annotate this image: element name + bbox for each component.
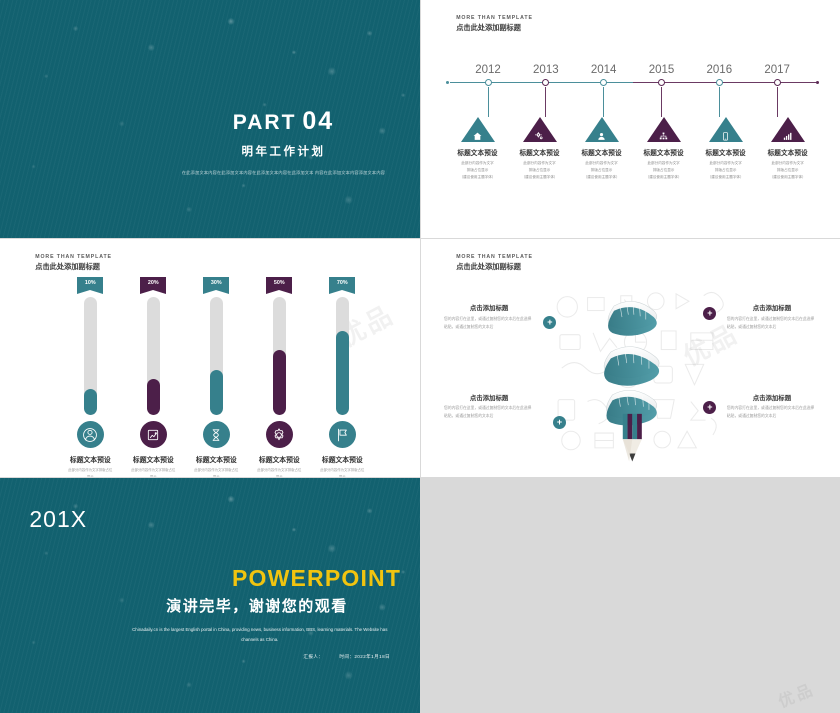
slide-header: MORE THAN TEMPLATE 点击此处添加副标题 — [35, 254, 112, 272]
header-cn: 点击此处添加副标题 — [456, 23, 533, 33]
timeline-node[interactable] — [517, 78, 575, 87]
text-block-bottom-left: 点击添加标题 您的内容打在这里，或通过复制您的文本后在此选择粘贴，或通过复制您的… — [444, 393, 534, 421]
timeline-item[interactable]: 标题文本预设此部分内容作为文字排版占位显示（建议使用主题字体） — [633, 117, 695, 181]
timeline-node-row — [442, 78, 823, 87]
slide-deck-grid: PART04 明年工作计划 在此添加文本内容在此添加文本内容在此添加文本内容在此… — [0, 0, 840, 713]
timeline-year: 2012 — [459, 64, 517, 76]
timeline-item-title: 标题文本预设 — [697, 147, 755, 157]
progress-fill — [273, 350, 286, 415]
progress-track[interactable] — [273, 297, 286, 415]
hourglass-icon[interactable] — [203, 421, 230, 448]
thanks-message: 演讲完毕，谢谢您的观看 — [124, 595, 401, 616]
timeline-item-title: 标题文本预设 — [635, 147, 693, 157]
timeline-year: 2014 — [575, 64, 633, 76]
timeline-stem-row — [442, 87, 823, 117]
slide-part-04[interactable]: PART04 明年工作计划 在此添加文本内容在此添加文本内容在此添加文本内容在此… — [0, 0, 420, 238]
timeline-item-title: 标题文本预设 — [759, 147, 817, 157]
powerpoint-title: POWERPOINT — [124, 567, 401, 590]
timeline-stem — [575, 87, 633, 117]
timeline-item[interactable]: 标题文本预设此部分内容作为文字排版占位显示（建议使用主题字体） — [695, 117, 757, 181]
header-en: MORE THAN TEMPLATE — [35, 254, 112, 260]
bar-item-title: 标题文本预设 — [133, 454, 174, 464]
stem-line — [603, 87, 604, 117]
timeline-node-dot — [774, 79, 781, 86]
slide-pencil-spiral[interactable]: MORE THAN TEMPLATE 点击此处添加副标题 优品 — [421, 239, 840, 477]
timeline-item-body: 此部分内容作为文字排版占位显示（建议使用主题字体） — [511, 160, 569, 181]
english-paragraph: Chinadaily.cn is the largest English por… — [124, 625, 401, 644]
person-icon — [596, 130, 608, 142]
timeline-node-dot — [716, 79, 723, 86]
part-number: 04 — [302, 107, 334, 135]
timeline-item-title: 标题文本预设 — [511, 147, 569, 157]
pencil-spiral-graphic — [587, 279, 679, 469]
timeline-item-title: 标题文本预设 — [573, 147, 631, 157]
stem-line — [545, 87, 546, 117]
date-label: 时间：2022年1月18日 — [339, 654, 390, 659]
timeline-triangle — [647, 117, 681, 142]
timeline-node-dot — [600, 79, 607, 86]
home-icon — [472, 130, 484, 142]
slide-timeline[interactable]: MORE THAN TEMPLATE 点击此处添加副标题 20122013201… — [421, 0, 840, 238]
timeline-node-dot — [485, 79, 492, 86]
block-title: 点击添加标题 — [727, 393, 817, 402]
part-title-group: PART04 明年工作计划 在此添加文本内容在此添加文本内容在此添加文本内容在此… — [174, 109, 392, 177]
progress-bar-row: 10%标题文本预设此部分内容作为文字排版占位显示（建议使用主题字体）20%标题文… — [59, 277, 374, 477]
slide-header: MORE THAN TEMPLATE 点击此处添加副标题 — [456, 254, 533, 272]
stem-line — [488, 87, 489, 117]
percent-badge: 20% — [140, 277, 166, 290]
timeline-stem — [459, 87, 517, 117]
block-title: 点击添加标题 — [727, 303, 817, 312]
timeline-node[interactable] — [690, 78, 748, 87]
timeline-item-title: 标题文本预设 — [449, 147, 507, 157]
block-title: 点击添加标题 — [444, 393, 534, 402]
watermark-page: 优品 — [774, 676, 818, 712]
timeline-item-body: 此部分内容作为文字排版占位显示（建议使用主题字体） — [573, 160, 631, 181]
block-title: 点击添加标题 — [444, 303, 534, 312]
timeline-year: 2013 — [517, 64, 575, 76]
text-block-bottom-right: 点击添加标题 您的内容打在这里，或通过复制您的文本后在此选择粘贴，或通过复制您的… — [727, 393, 817, 421]
bar-item-body: 此部分内容作为文字排版占位显示（建议使用主题字体） — [257, 467, 301, 477]
report-icon[interactable] — [140, 421, 167, 448]
stem-line — [661, 87, 662, 117]
timeline-stem — [690, 87, 748, 117]
timeline-stem — [748, 87, 806, 117]
block-body: 您的内容打在这里，或通过复制您的文本后在此选择粘贴，或通过复制您的文本后 — [727, 405, 817, 421]
timeline-item[interactable]: 标题文本预设此部分内容作为文字排版占位显示（建议使用主题字体） — [509, 117, 571, 181]
header-en: MORE THAN TEMPLATE — [456, 254, 533, 260]
slide-header: MORE THAN TEMPLATE 点击此处添加副标题 — [456, 15, 533, 33]
percent-badge: 50% — [266, 277, 292, 290]
timeline-year: 2016 — [690, 64, 748, 76]
timeline-node-dot — [542, 79, 549, 86]
progress-bar-item[interactable]: 20%标题文本预设此部分内容作为文字排版占位显示（建议使用主题字体） — [122, 277, 185, 477]
timeline-stem — [633, 87, 691, 117]
progress-fill — [210, 370, 223, 416]
percent-badge: 10% — [77, 277, 103, 290]
part-subtitle: 明年工作计划 — [174, 143, 392, 159]
stem-line — [719, 87, 720, 117]
bar-item-title: 标题文本预设 — [196, 454, 237, 464]
header-en: MORE THAN TEMPLATE — [456, 15, 533, 21]
timeline-stem — [517, 87, 575, 117]
timeline-item[interactable]: 标题文本预设此部分内容作为文字排版占位显示（建议使用主题字体） — [757, 117, 819, 181]
part-heading: PART04 — [174, 109, 392, 134]
block-body: 您的内容打在这里，或通过复制您的文本后在此选择粘贴，或通过复制您的文本后 — [444, 405, 534, 421]
mobile-icon — [720, 130, 732, 142]
timeline-item-row: 标题文本预设此部分内容作为文字排版占位显示（建议使用主题字体）标题文本预设此部分… — [442, 117, 823, 181]
sitemap-icon — [658, 130, 670, 142]
bar-item-title: 标题文本预设 — [70, 454, 111, 464]
progress-bar-item[interactable]: 50%标题文本预设此部分内容作为文字排版占位显示（建议使用主题字体） — [248, 277, 311, 477]
stem-line — [777, 87, 778, 117]
flag-icon[interactable] — [329, 421, 356, 448]
block-body: 您的内容打在这里，或通过复制您的文本后在此选择粘贴，或通过复制您的文本后 — [727, 316, 817, 332]
timeline-item-body: 此部分内容作为文字排版占位显示（建议使用主题字体） — [759, 160, 817, 181]
slide-thank-you[interactable]: 201X POWERPOINT 演讲完毕，谢谢您的观看 Chinadaily.c… — [0, 478, 420, 713]
timeline-triangle — [709, 117, 743, 142]
part-label: PART — [233, 111, 297, 134]
bar-item-body: 此部分内容作为文字排版占位显示（建议使用主题字体） — [68, 467, 112, 477]
part-description: 在此添加文本内容在此添加文本内容在此添加文本内容在此添加文本 内容在此添加文本内… — [174, 169, 392, 177]
timeline-item-body: 此部分内容作为文字排版占位显示（建议使用主题字体） — [697, 160, 755, 181]
percent-badge: 30% — [203, 277, 229, 290]
timeline-item-body: 此部分内容作为文字排版占位显示（建议使用主题字体） — [635, 160, 693, 181]
bar-item-title: 标题文本预设 — [259, 454, 300, 464]
timeline-year: 2015 — [633, 64, 691, 76]
timeline-axis — [442, 78, 823, 87]
bars-icon — [782, 130, 794, 142]
presenter-line: 汇报人：时间：2022年1月18日 — [124, 654, 401, 660]
timeline-node-dot — [658, 79, 665, 86]
year-label: 201X — [29, 506, 87, 533]
progress-bar-item[interactable]: 30%标题文本预设此部分内容作为文字排版占位显示（建议使用主题字体） — [185, 277, 248, 477]
timeline-triangle — [771, 117, 805, 142]
timeline-node[interactable] — [459, 78, 517, 87]
bar-item-body: 此部分内容作为文字排版占位显示（建议使用主题字体） — [194, 467, 238, 477]
progress-fill — [84, 389, 97, 415]
header-cn: 点击此处添加副标题 — [456, 262, 533, 272]
timeline-triangle — [523, 117, 557, 142]
user-icon[interactable] — [77, 421, 104, 448]
bar-item-title: 标题文本预设 — [322, 454, 363, 464]
timeline-node[interactable] — [575, 78, 633, 87]
block-body: 您的内容打在这里，或通过复制您的文本后在此选择粘贴，或通过复制您的文本后 — [444, 316, 534, 332]
timeline-item-body: 此部分内容作为文字排版占位显示（建议使用主题字体） — [449, 160, 507, 181]
gear-icon[interactable] — [266, 421, 293, 448]
timeline-triangle — [585, 117, 619, 142]
progress-bar-item[interactable]: 70%标题文本预设此部分内容作为文字排版占位显示（建议使用主题字体） — [311, 277, 374, 477]
timeline-year: 2017 — [748, 64, 806, 76]
progress-fill — [147, 379, 160, 415]
progress-track[interactable] — [84, 297, 97, 415]
header-cn: 点击此处添加副标题 — [35, 262, 112, 272]
text-block-top-left: 点击添加标题 您的内容打在这里，或通过复制您的文本后在此选择粘贴，或通过复制您的… — [444, 303, 534, 331]
progress-track[interactable] — [147, 297, 160, 415]
progress-fill — [336, 331, 349, 415]
timeline-year-row: 201220132014201520162017 — [442, 64, 823, 76]
bar-item-body: 此部分内容作为文字排版占位显示（建议使用主题字体） — [131, 467, 175, 477]
progress-track[interactable] — [210, 297, 223, 415]
gears-icon — [534, 130, 546, 142]
progress-bar-item[interactable]: 10%标题文本预设此部分内容作为文字排版占位显示（建议使用主题字体） — [59, 277, 122, 477]
timeline-triangle — [461, 117, 495, 142]
timeline-item[interactable]: 标题文本预设此部分内容作为文字排版占位显示（建议使用主题字体） — [447, 117, 509, 181]
presenter-label: 汇报人： — [303, 654, 323, 659]
timeline-item[interactable]: 标题文本预设此部分内容作为文字排版占位显示（建议使用主题字体） — [571, 117, 633, 181]
thanks-group: POWERPOINT 演讲完毕，谢谢您的观看 Chinadaily.cn is … — [124, 567, 401, 659]
progress-track[interactable] — [336, 297, 349, 415]
timeline-node[interactable] — [633, 78, 691, 87]
slide-progress-bars[interactable]: MORE THAN TEMPLATE 点击此处添加副标题 优品 10%标题文本预… — [0, 239, 420, 477]
timeline-node[interactable] — [748, 78, 806, 87]
text-block-top-right: 点击添加标题 您的内容打在这里，或通过复制您的文本后在此选择粘贴，或通过复制您的… — [727, 303, 817, 331]
timeline: 201220132014201520162017 标题文本预设此部分内容作为文字… — [442, 64, 823, 181]
bar-item-body: 此部分内容作为文字排版占位显示（建议使用主题字体） — [320, 467, 364, 477]
percent-badge: 70% — [329, 277, 355, 290]
